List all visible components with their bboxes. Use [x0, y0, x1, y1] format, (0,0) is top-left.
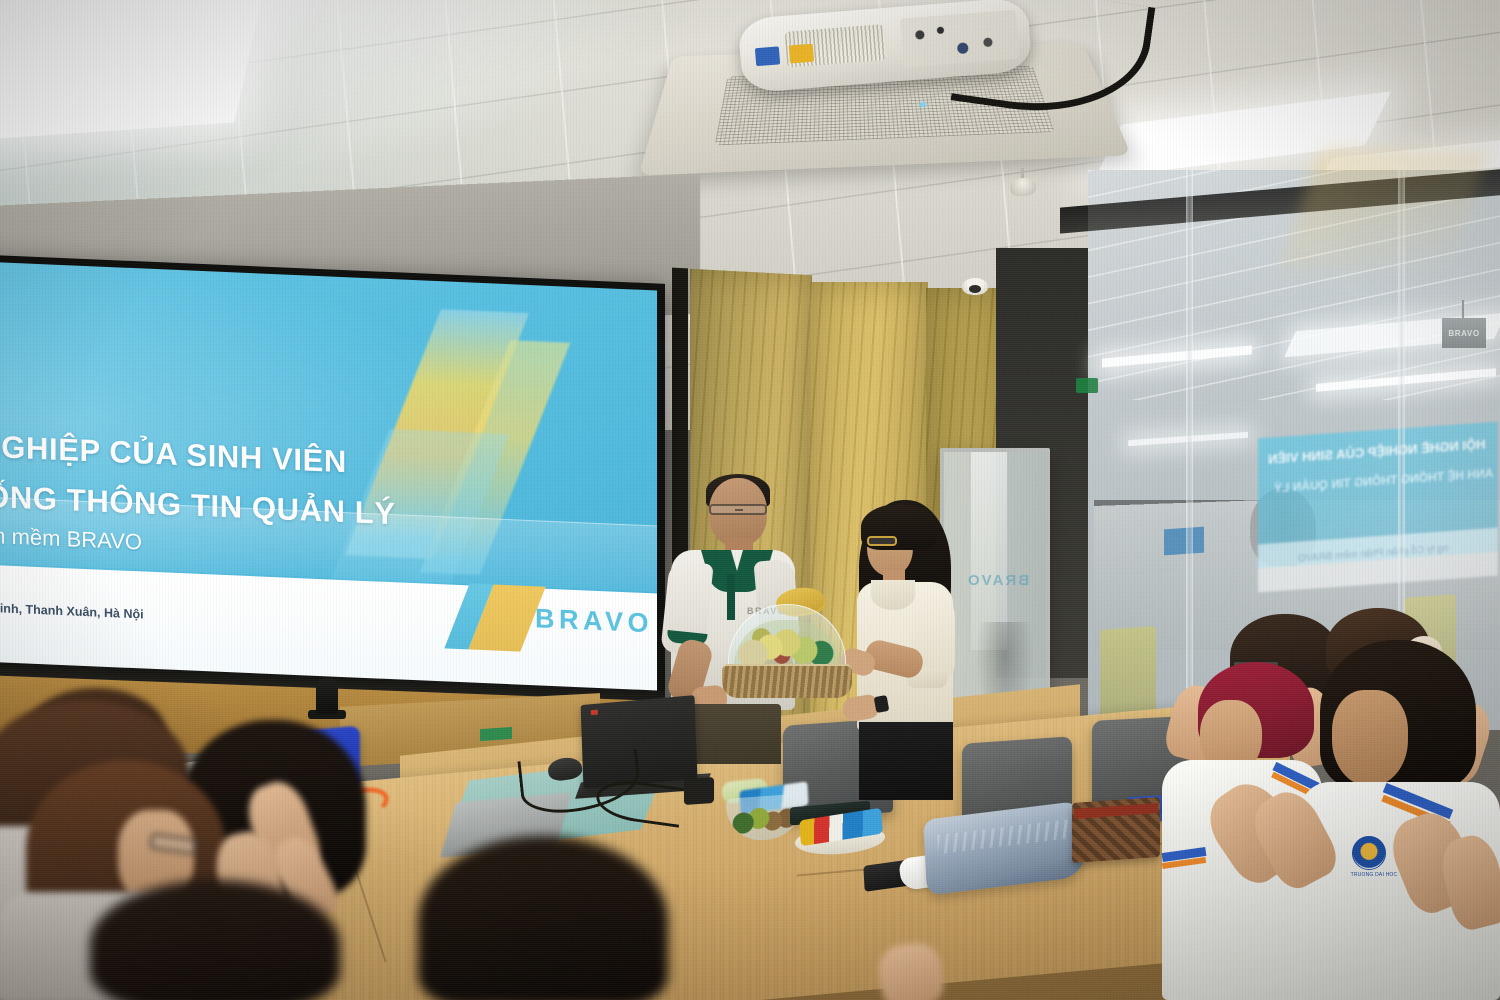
- hanging-sign-rod: [1462, 300, 1464, 320]
- power-adapter: [684, 777, 714, 805]
- university-crest-logo: [1352, 836, 1386, 870]
- attendee-left-foreground-hair: [90, 880, 340, 1000]
- hanging-sign-label: BRAVO: [1448, 329, 1479, 338]
- bravo-logo: BRAVO: [535, 603, 653, 639]
- glass-mullion-1: [1186, 170, 1193, 730]
- attendee-center-foreground-hair: [418, 836, 668, 1000]
- projection-screen: HỘI NGHỀ NGHIỆP CỦA SINH VIÊN ANH HỆ THỐ…: [0, 246, 665, 709]
- recipient-woman: [845, 500, 960, 790]
- presenter-trousers: [685, 704, 781, 764]
- wall-green-tag: [480, 727, 512, 741]
- recipient-wristwatch-icon: [874, 695, 890, 713]
- office-chair-yellow-1: [1100, 626, 1156, 722]
- projector-label-blue: [754, 46, 779, 66]
- reflection-title-line-2: ANH HỆ THỐNG THÔNG TIN QUẢN LÝ: [1274, 466, 1493, 495]
- gift-fruit-basket: [722, 598, 852, 706]
- laptop-brand-sticker: [591, 710, 598, 716]
- meeting-room-photo: BRAVO HỘI NGHỀ NGHIỆP CỦA SINH VIÊN ANH …: [0, 0, 1500, 1000]
- desktop-microphone: [316, 678, 338, 714]
- office-monitor: [1164, 527, 1204, 556]
- divider-bravo-reflection: BRAVO: [966, 572, 1029, 589]
- security-camera-icon: [962, 278, 988, 295]
- projector-label-yellow: [789, 43, 814, 63]
- reflection-company-line: ng ty Cổ phần Phần mềm BRAVO: [1298, 543, 1448, 565]
- presenter-eyeglasses-icon: [709, 504, 767, 515]
- office-hanging-sign: BRAVO: [1442, 318, 1486, 348]
- basket-wicker-base: [722, 664, 852, 698]
- recipient-trousers: [859, 722, 953, 800]
- recipient-eyeglasses-icon: [867, 536, 897, 546]
- university-crest-text: TRUONG DAI HOC: [1344, 872, 1404, 878]
- exit-sign-icon: [1076, 378, 1098, 393]
- presentation-slide: HỘI NGHỀ NGHIỆP CỦA SINH VIÊN ANH HỆ THỐ…: [0, 254, 657, 702]
- reflection-title-line-1: HỘI NGHỀ NGHIỆP CỦA SINH VIÊN: [1268, 436, 1485, 466]
- recipient-collar: [871, 580, 915, 610]
- ceiling-light-panel-left: [0, 0, 271, 143]
- student-front-face: [1332, 690, 1408, 786]
